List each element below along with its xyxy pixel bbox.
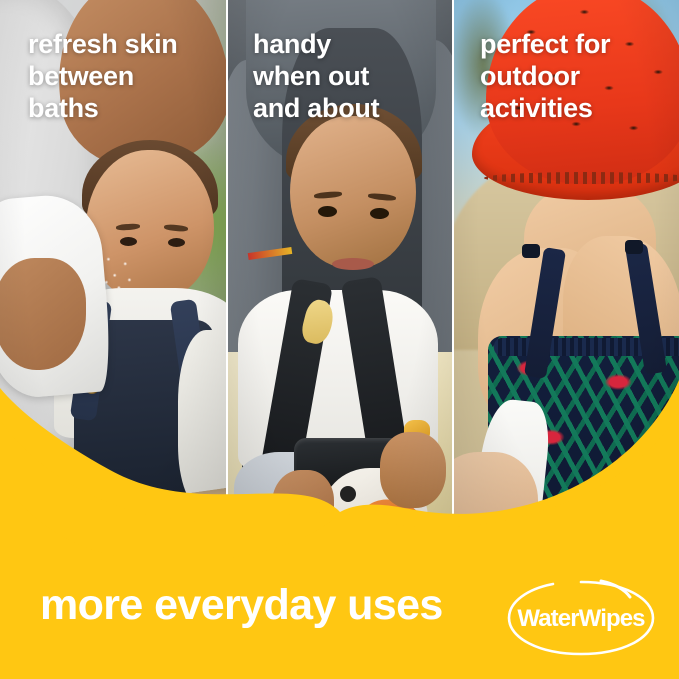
panel-caption-out-and-about: handy when out and about [253, 28, 379, 124]
toddler-eye-left [120, 237, 137, 246]
photo-panel-outdoor-activities: perfect for outdoor activities [454, 0, 679, 560]
waterwipes-logo[interactable]: WaterWipes [505, 574, 657, 662]
toddler-hand-left [272, 470, 334, 542]
panel-caption-refresh-skin: refresh skin between baths [28, 28, 177, 124]
toddler-eye-right [168, 238, 185, 247]
footer-band: more everyday uses WaterWipes [0, 560, 679, 679]
toddler-hand-right [380, 432, 446, 508]
footer-headline: more everyday uses [40, 584, 443, 627]
adult-hand [454, 452, 538, 560]
toddler-eye-left [318, 206, 337, 217]
sun-hat-stitching [484, 172, 679, 184]
photo-panel-refresh-skin: refresh skin between baths [0, 0, 226, 560]
panel-caption-outdoor-activities: perfect for outdoor activities [480, 28, 610, 124]
toddler-head [290, 116, 416, 268]
photo-panel-out-and-about: handy when out and about [228, 0, 452, 560]
toddler-sleeve-right [178, 330, 226, 510]
ad-creative: refresh skin between baths [0, 0, 679, 679]
logo-wordmark: WaterWipes [505, 605, 657, 633]
dress-clip-right [625, 240, 643, 254]
photo-strip: refresh skin between baths [0, 0, 679, 560]
toddler-eye-right [370, 208, 389, 219]
dress-clip-left [522, 244, 540, 258]
plush-toy-eye [340, 486, 356, 502]
toddler-mouth [332, 258, 374, 270]
